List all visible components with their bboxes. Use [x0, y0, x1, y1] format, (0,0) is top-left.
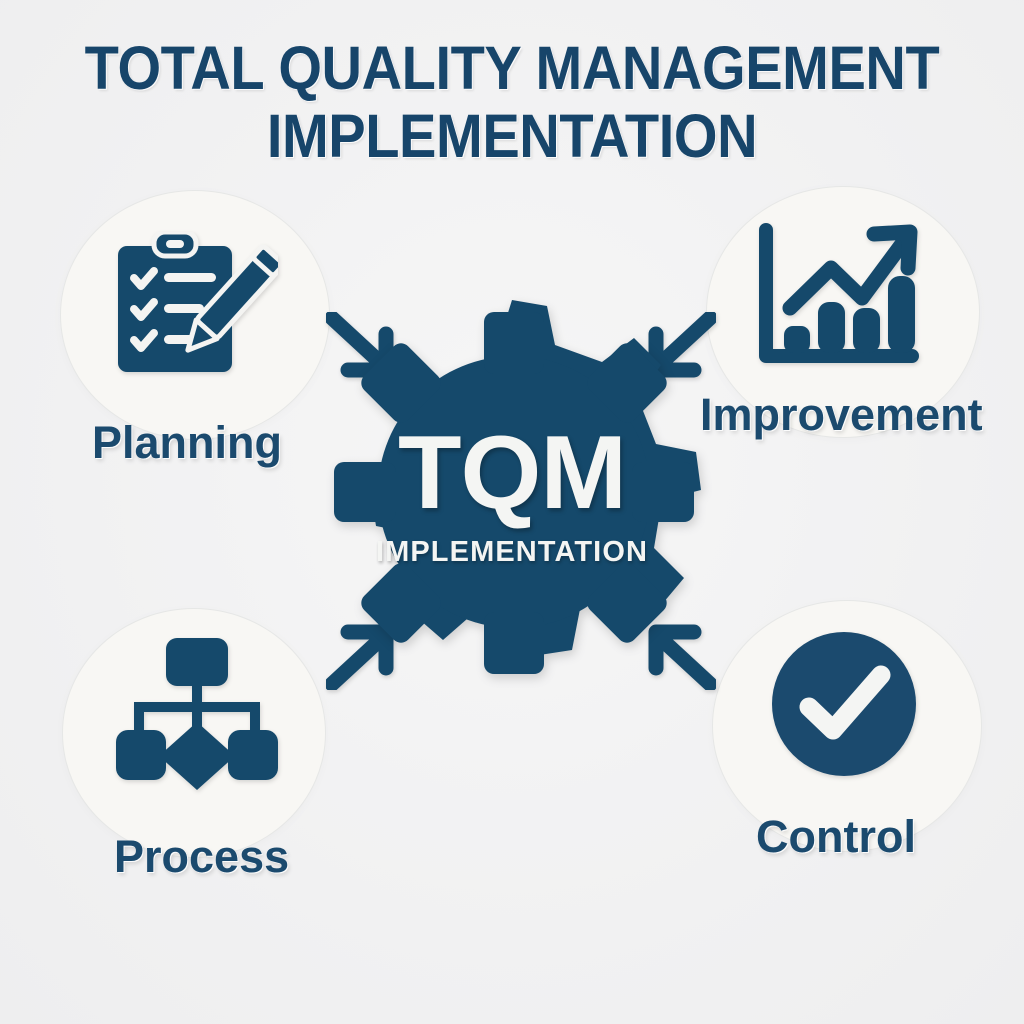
title-line-2: IMPLEMENTATION	[41, 102, 983, 170]
quadrant-label-improvement: Improvement	[700, 390, 983, 440]
quadrant-label-process: Process	[114, 832, 289, 882]
clipboard-checklist-pencil-icon	[112, 232, 278, 382]
quadrant-label-planning: Planning	[92, 418, 282, 468]
center-gear: TQM IMPLEMENTATION	[318, 300, 706, 700]
title-line-1: TOTAL QUALITY MANAGEMENT	[41, 34, 983, 102]
quadrant-label-control: Control	[756, 812, 916, 862]
growth-bar-chart-arrow-icon	[752, 222, 924, 374]
flowchart-hierarchy-icon	[108, 636, 284, 796]
gear-icon	[318, 300, 706, 700]
infographic-canvas: TOTAL QUALITY MANAGEMENT IMPLEMENTATION	[0, 0, 1024, 1024]
page-title: TOTAL QUALITY MANAGEMENT IMPLEMENTATION	[0, 34, 1024, 170]
check-circle-icon	[768, 628, 920, 780]
